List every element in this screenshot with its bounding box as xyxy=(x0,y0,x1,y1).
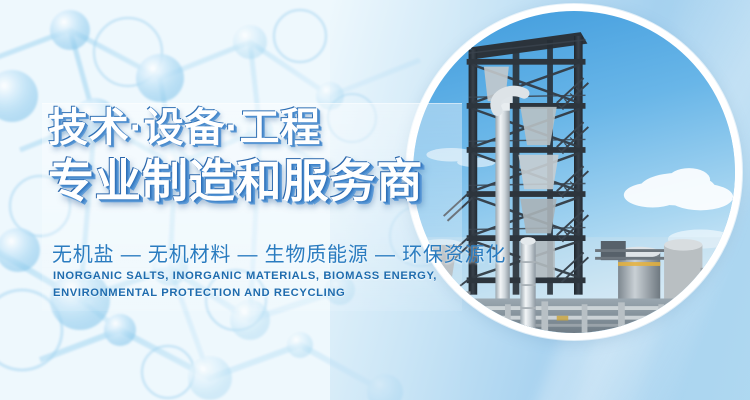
headline-block: 技术·设备·工程 专业制造和服务商 xyxy=(48,108,468,204)
subtitle-chinese: 无机盐 — 无机材料 — 生物质能源 — 环保资源化 xyxy=(52,238,506,267)
headline-line-2: 专业制造和服务商 xyxy=(48,158,468,204)
headline-line-1: 技术·设备·工程 xyxy=(48,108,468,148)
hero-banner: 技术·设备·工程 专业制造和服务商 无机盐 — 无机材料 — 生物质能源 — 环… xyxy=(0,0,750,400)
subtitle-english: INORGANIC SALTS, INORGANIC MATERIALS, BI… xyxy=(53,268,453,303)
